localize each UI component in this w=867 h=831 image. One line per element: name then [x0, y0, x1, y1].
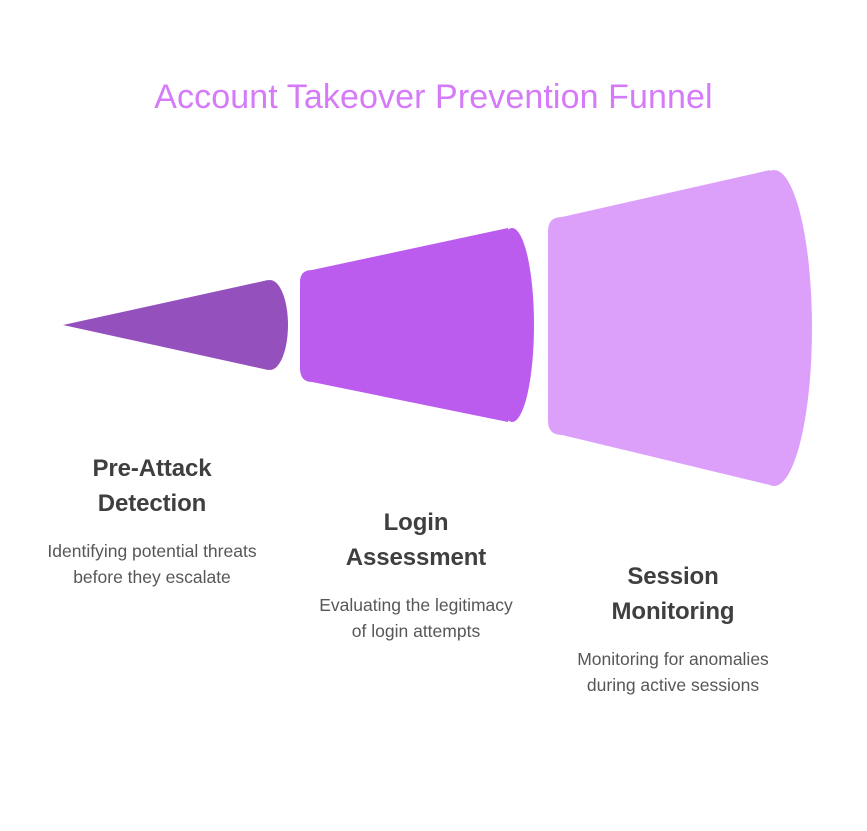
stage-title-3: Session Monitoring — [560, 560, 786, 630]
page-title: Account Takeover Prevention Funnel — [0, 78, 867, 117]
stage-title-line-1: Pre-Attack — [92, 455, 211, 482]
funnel-segment-pre-attack-detection[interactable] — [63, 280, 288, 370]
stage-title-line-1: Session — [627, 563, 718, 590]
funnel-segment-session-monitoring[interactable] — [548, 170, 812, 486]
stage-title-line-2: Assessment — [346, 544, 486, 571]
stage-label-login-assessment: Login Assessment Evaluating the legitima… — [312, 506, 520, 645]
stage-title-line-1: Login — [384, 509, 449, 536]
stage-description-1: Identifying potential threats before the… — [38, 538, 266, 591]
stage-description-3: Monitoring for anomalies during active s… — [560, 646, 786, 699]
stage-label-pre-attack-detection: Pre-Attack Detection Identifying potenti… — [38, 452, 266, 591]
stage-description-2: Evaluating the legitimacy of login attem… — [312, 592, 520, 645]
funnel-diagram-canvas: Account Takeover Prevention Funnel Pre-A… — [0, 0, 867, 831]
funnel-segment-cap-2 — [490, 228, 534, 422]
stage-label-session-monitoring: Session Monitoring Monitoring for anomal… — [560, 560, 786, 699]
stage-title-2: Login Assessment — [312, 506, 520, 576]
funnel-segment-login-assessment[interactable] — [300, 228, 534, 422]
funnel-segment-body-2 — [300, 228, 508, 422]
stage-title-line-2: Monitoring — [612, 598, 735, 625]
funnel-segment-cap-3 — [736, 170, 812, 486]
stage-title-line-2: Detection — [98, 490, 206, 517]
funnel-segment-cap-1 — [252, 280, 288, 370]
funnel-segment-body-1 — [63, 280, 268, 370]
stage-title-1: Pre-Attack Detection — [38, 452, 266, 522]
